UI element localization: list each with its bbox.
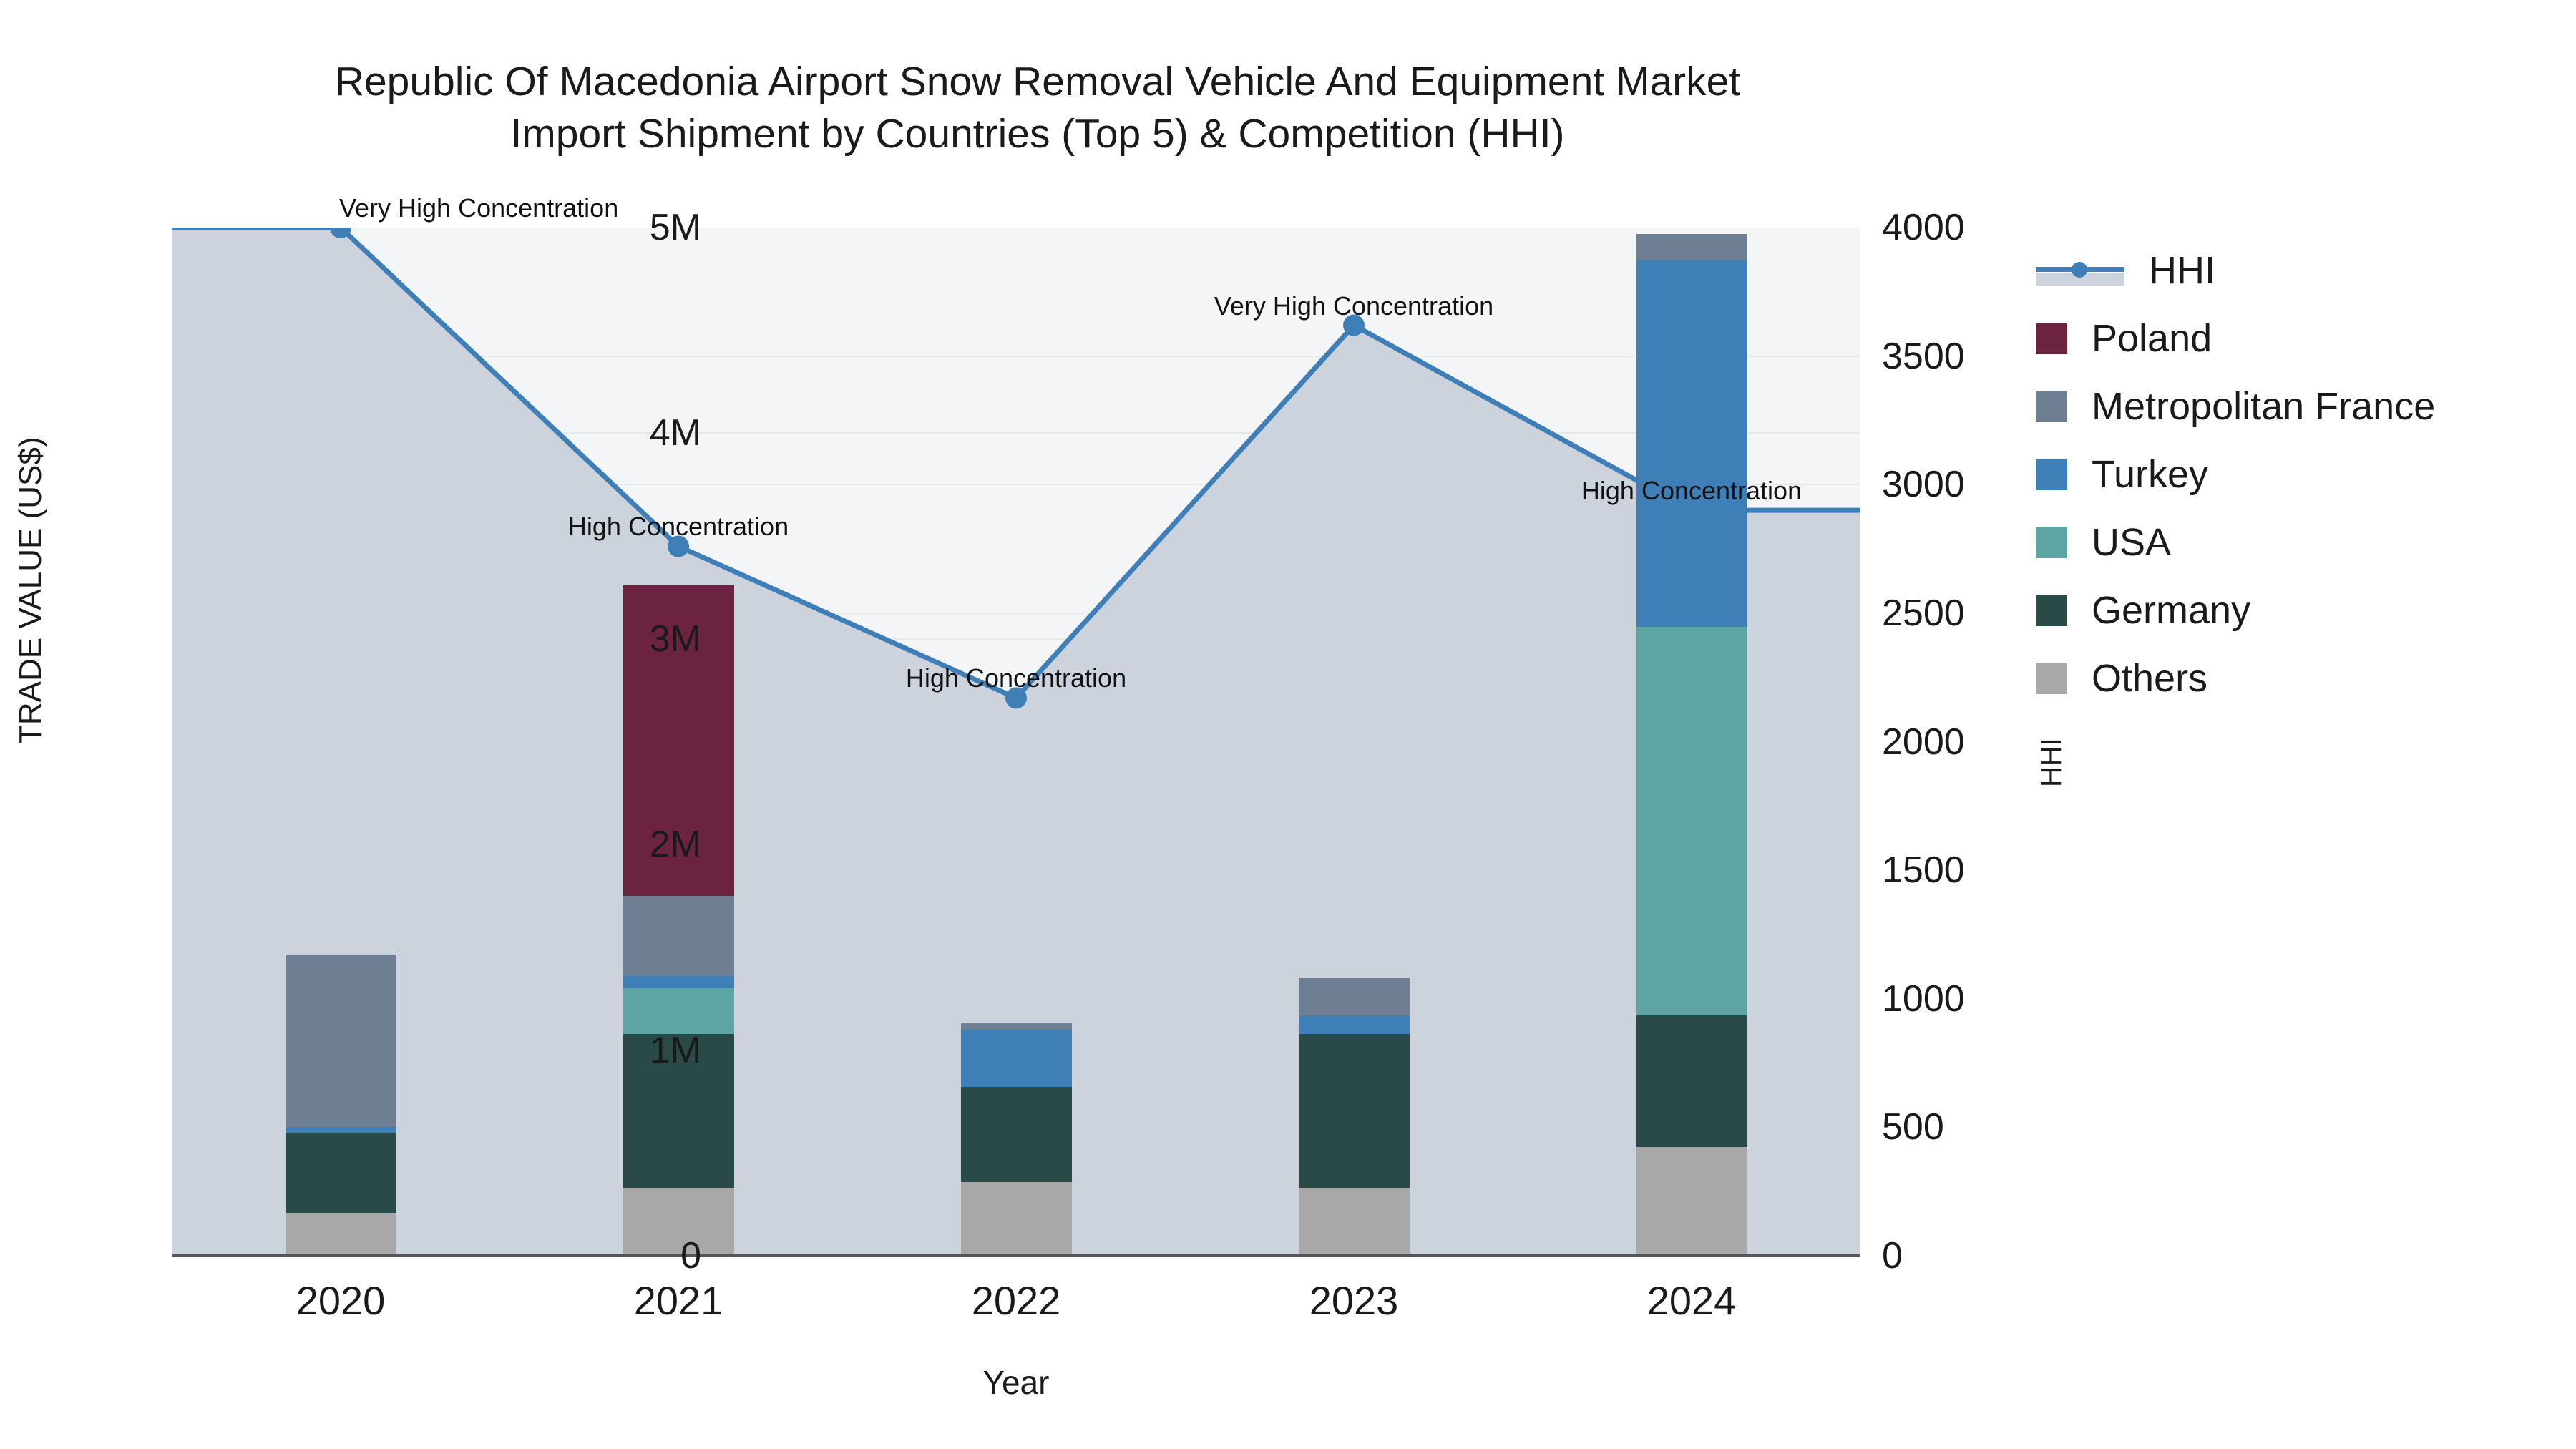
x-axis-tick: 2021	[634, 1277, 723, 1324]
legend-color-swatch	[2036, 459, 2067, 490]
x-axis-tick: 2023	[1309, 1277, 1399, 1324]
y-axis-tick: 1M	[650, 1029, 701, 1072]
y-axis-tick: 3M	[650, 618, 701, 660]
plot-area	[172, 228, 1860, 1256]
legend-item[interactable]: Poland	[2036, 304, 2565, 372]
bar-segment[interactable]	[286, 1127, 396, 1132]
legend-item[interactable]: Germany	[2036, 576, 2565, 644]
legend-color-swatch	[2036, 391, 2067, 422]
legend-item[interactable]: Others	[2036, 644, 2565, 712]
legend-color-swatch	[2036, 323, 2067, 354]
hhi-data-point[interactable]	[330, 228, 351, 238]
y2-axis-tick: 4000	[1882, 206, 1965, 249]
bar-segment[interactable]	[1299, 1015, 1410, 1034]
legend-item-label: HHI	[2149, 248, 2215, 293]
y2-axis-tick: 500	[1882, 1106, 1944, 1148]
bar-segment[interactable]	[1299, 978, 1410, 1015]
legend-color-swatch	[2036, 595, 2067, 626]
y2-axis-tick: 2000	[1882, 721, 1965, 763]
y-axis-tick: 2M	[650, 823, 701, 866]
bar-segment[interactable]	[961, 1023, 1072, 1030]
y2-axis-tick: 2500	[1882, 592, 1965, 635]
x-axis-tick: 2024	[1647, 1277, 1737, 1324]
bar-segment[interactable]	[1636, 260, 1747, 627]
concentration-annotation: High Concentration	[568, 512, 789, 542]
bar-segment[interactable]	[1636, 627, 1747, 1015]
chart-legend: HHIPolandMetropolitan FranceTurkeyUSAGer…	[2036, 236, 2565, 712]
legend-item-label: Germany	[2092, 588, 2250, 633]
y-axis-label: TRADE VALUE (US$)	[13, 437, 49, 745]
bar-segment[interactable]	[286, 1133, 396, 1213]
y-axis-tick: 0	[680, 1234, 701, 1277]
concentration-annotation: Very High Concentration	[339, 193, 618, 223]
hhi-line-icon	[2036, 255, 2124, 286]
legend-item[interactable]: HHI	[2036, 236, 2565, 304]
gridline-secondary	[172, 356, 1860, 357]
chart-subtitle: Import Shipment by Countries (Top 5) & C…	[0, 108, 2075, 160]
y-axis-tick: 4M	[650, 411, 701, 454]
legend-item[interactable]: Turkey	[2036, 440, 2565, 508]
x-axis-line	[172, 1254, 1860, 1257]
bar-segment[interactable]	[623, 988, 734, 1033]
y2-axis-tick: 3500	[1882, 335, 1965, 378]
legend-item-label: Others	[2092, 656, 2207, 701]
bar-segment[interactable]	[286, 1213, 396, 1256]
gridline-secondary	[172, 869, 1860, 871]
legend-item[interactable]: Metropolitan France	[2036, 372, 2565, 440]
bar-segment[interactable]	[1299, 1034, 1410, 1189]
y2-axis-tick: 1500	[1882, 849, 1965, 892]
gridline-secondary	[172, 228, 1860, 228]
gridline	[172, 432, 1860, 434]
x-axis-label: Year	[172, 1363, 1860, 1402]
bar-segment[interactable]	[961, 1087, 1072, 1181]
legend-color-swatch	[2036, 663, 2067, 694]
legend-color-swatch	[2036, 527, 2067, 558]
legend-item[interactable]: USA	[2036, 508, 2565, 576]
gridline-secondary	[172, 998, 1860, 1000]
y-axis-tick: 5M	[650, 206, 701, 249]
y2-axis-label: HHI	[2036, 738, 2068, 787]
chart-title: Republic Of Macedonia Airport Snow Remov…	[0, 56, 2075, 160]
legend-item-label: Turkey	[2092, 452, 2208, 497]
bar-segment[interactable]	[961, 1030, 1072, 1087]
bar-segment[interactable]	[1636, 1147, 1747, 1256]
plot-inner	[172, 228, 1860, 1256]
chart-title-line1: Republic Of Macedonia Airport Snow Remov…	[335, 59, 1740, 104]
chart-canvas: Republic Of Macedonia Airport Snow Remov…	[0, 0, 2576, 1449]
bar-segment[interactable]	[1299, 1188, 1410, 1256]
bar-segment[interactable]	[623, 1188, 734, 1256]
gridline	[172, 638, 1860, 640]
concentration-annotation: High Concentration	[1581, 476, 1802, 506]
legend-item-label: Poland	[2092, 316, 2212, 361]
legend-item-label: USA	[2092, 520, 2171, 565]
y2-axis-tick: 1000	[1882, 977, 1965, 1020]
legend-item-label: Metropolitan France	[2092, 384, 2435, 429]
bar-segment[interactable]	[1636, 234, 1747, 260]
bar-segment[interactable]	[961, 1182, 1072, 1256]
hhi-line	[172, 228, 1860, 698]
y2-axis-tick: 3000	[1882, 463, 1965, 506]
gridline-secondary	[172, 741, 1860, 743]
concentration-annotation: Very High Concentration	[1214, 291, 1493, 321]
x-axis-tick: 2022	[972, 1277, 1061, 1324]
bar-segment[interactable]	[1636, 1015, 1747, 1147]
concentration-annotation: High Concentration	[906, 663, 1126, 693]
bar-segment[interactable]	[623, 976, 734, 988]
gridline	[172, 844, 1860, 845]
bar-segment[interactable]	[286, 955, 396, 1127]
gridline-secondary	[172, 613, 1860, 614]
bar-segment[interactable]	[623, 896, 734, 976]
y2-axis-tick: 0	[1882, 1234, 1903, 1277]
x-axis-tick: 2020	[296, 1277, 386, 1324]
